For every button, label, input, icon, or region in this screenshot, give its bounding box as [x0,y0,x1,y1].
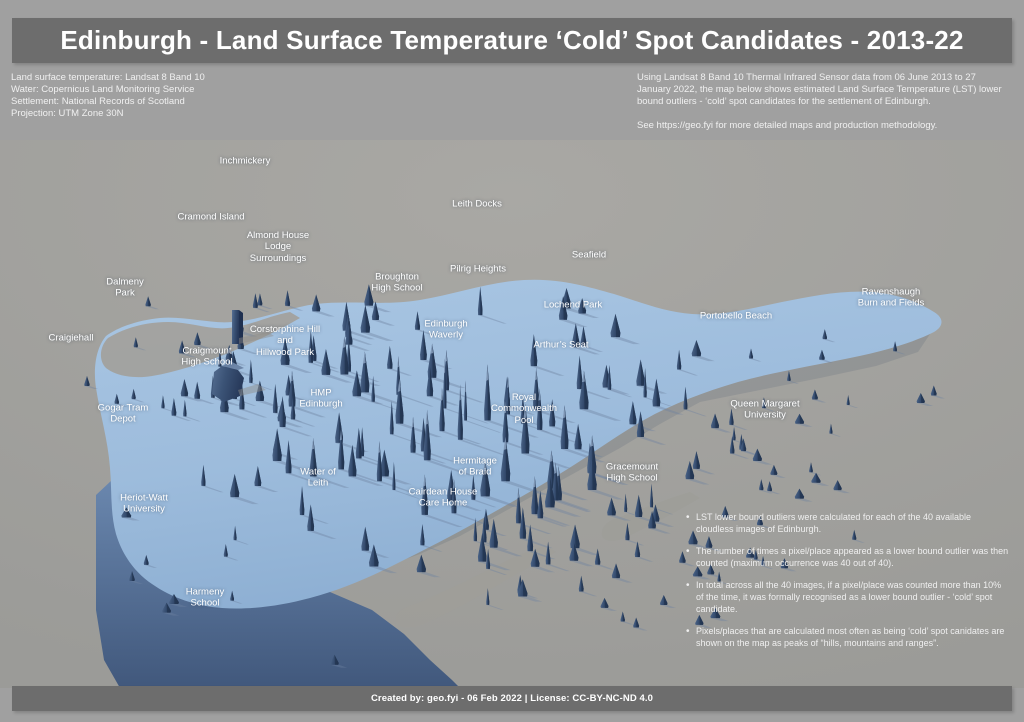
website-reference: See https://geo.fyi for more detailed ma… [637,120,1007,132]
bullet-icon: • [686,580,696,615]
note-text: In total across all the 40 images, if a … [696,580,1011,615]
metadata-line-settlement: Settlement: National Records of Scotland [11,96,411,108]
note-item: • Pixels/places that are calculated most… [686,626,1011,649]
description-paragraph: Using Landsat 8 Band 10 Thermal Infrared… [637,72,1007,108]
footer-credit: Created by: geo.fyi - 06 Feb 2022 | Lice… [371,693,653,704]
page-title: Edinburgh - Land Surface Temperature ‘Co… [60,25,963,56]
bullet-icon: • [686,512,696,535]
bullet-icon: • [686,546,696,569]
note-text: LST lower bound outliers were calculated… [696,512,1011,535]
metadata-description: Using Landsat 8 Band 10 Thermal Infrared… [637,72,1007,144]
methodology-notes: • LST lower bound outliers were calculat… [686,512,1011,660]
note-item: • LST lower bound outliers were calculat… [686,512,1011,535]
note-text: The number of times a pixel/place appear… [696,546,1011,569]
metadata-line-projection: Projection: UTM Zone 30N [11,108,411,120]
title-banner: Edinburgh - Land Surface Temperature ‘Co… [12,18,1012,63]
note-text: Pixels/places that are calculated most o… [696,626,1011,649]
poster-root: Edinburgh - Land Surface Temperature ‘Co… [0,0,1024,722]
metadata-line-lst: Land surface temperature: Landsat 8 Band… [11,72,411,84]
footer-banner: Created by: geo.fyi - 06 Feb 2022 | Lice… [12,686,1012,711]
bullet-icon: • [686,626,696,649]
metadata-line-water: Water: Copernicus Land Monitoring Servic… [11,84,411,96]
note-item: • The number of times a pixel/place appe… [686,546,1011,569]
metadata-sources: Land surface temperature: Landsat 8 Band… [11,72,411,120]
note-item: • In total across all the 40 images, if … [686,580,1011,615]
